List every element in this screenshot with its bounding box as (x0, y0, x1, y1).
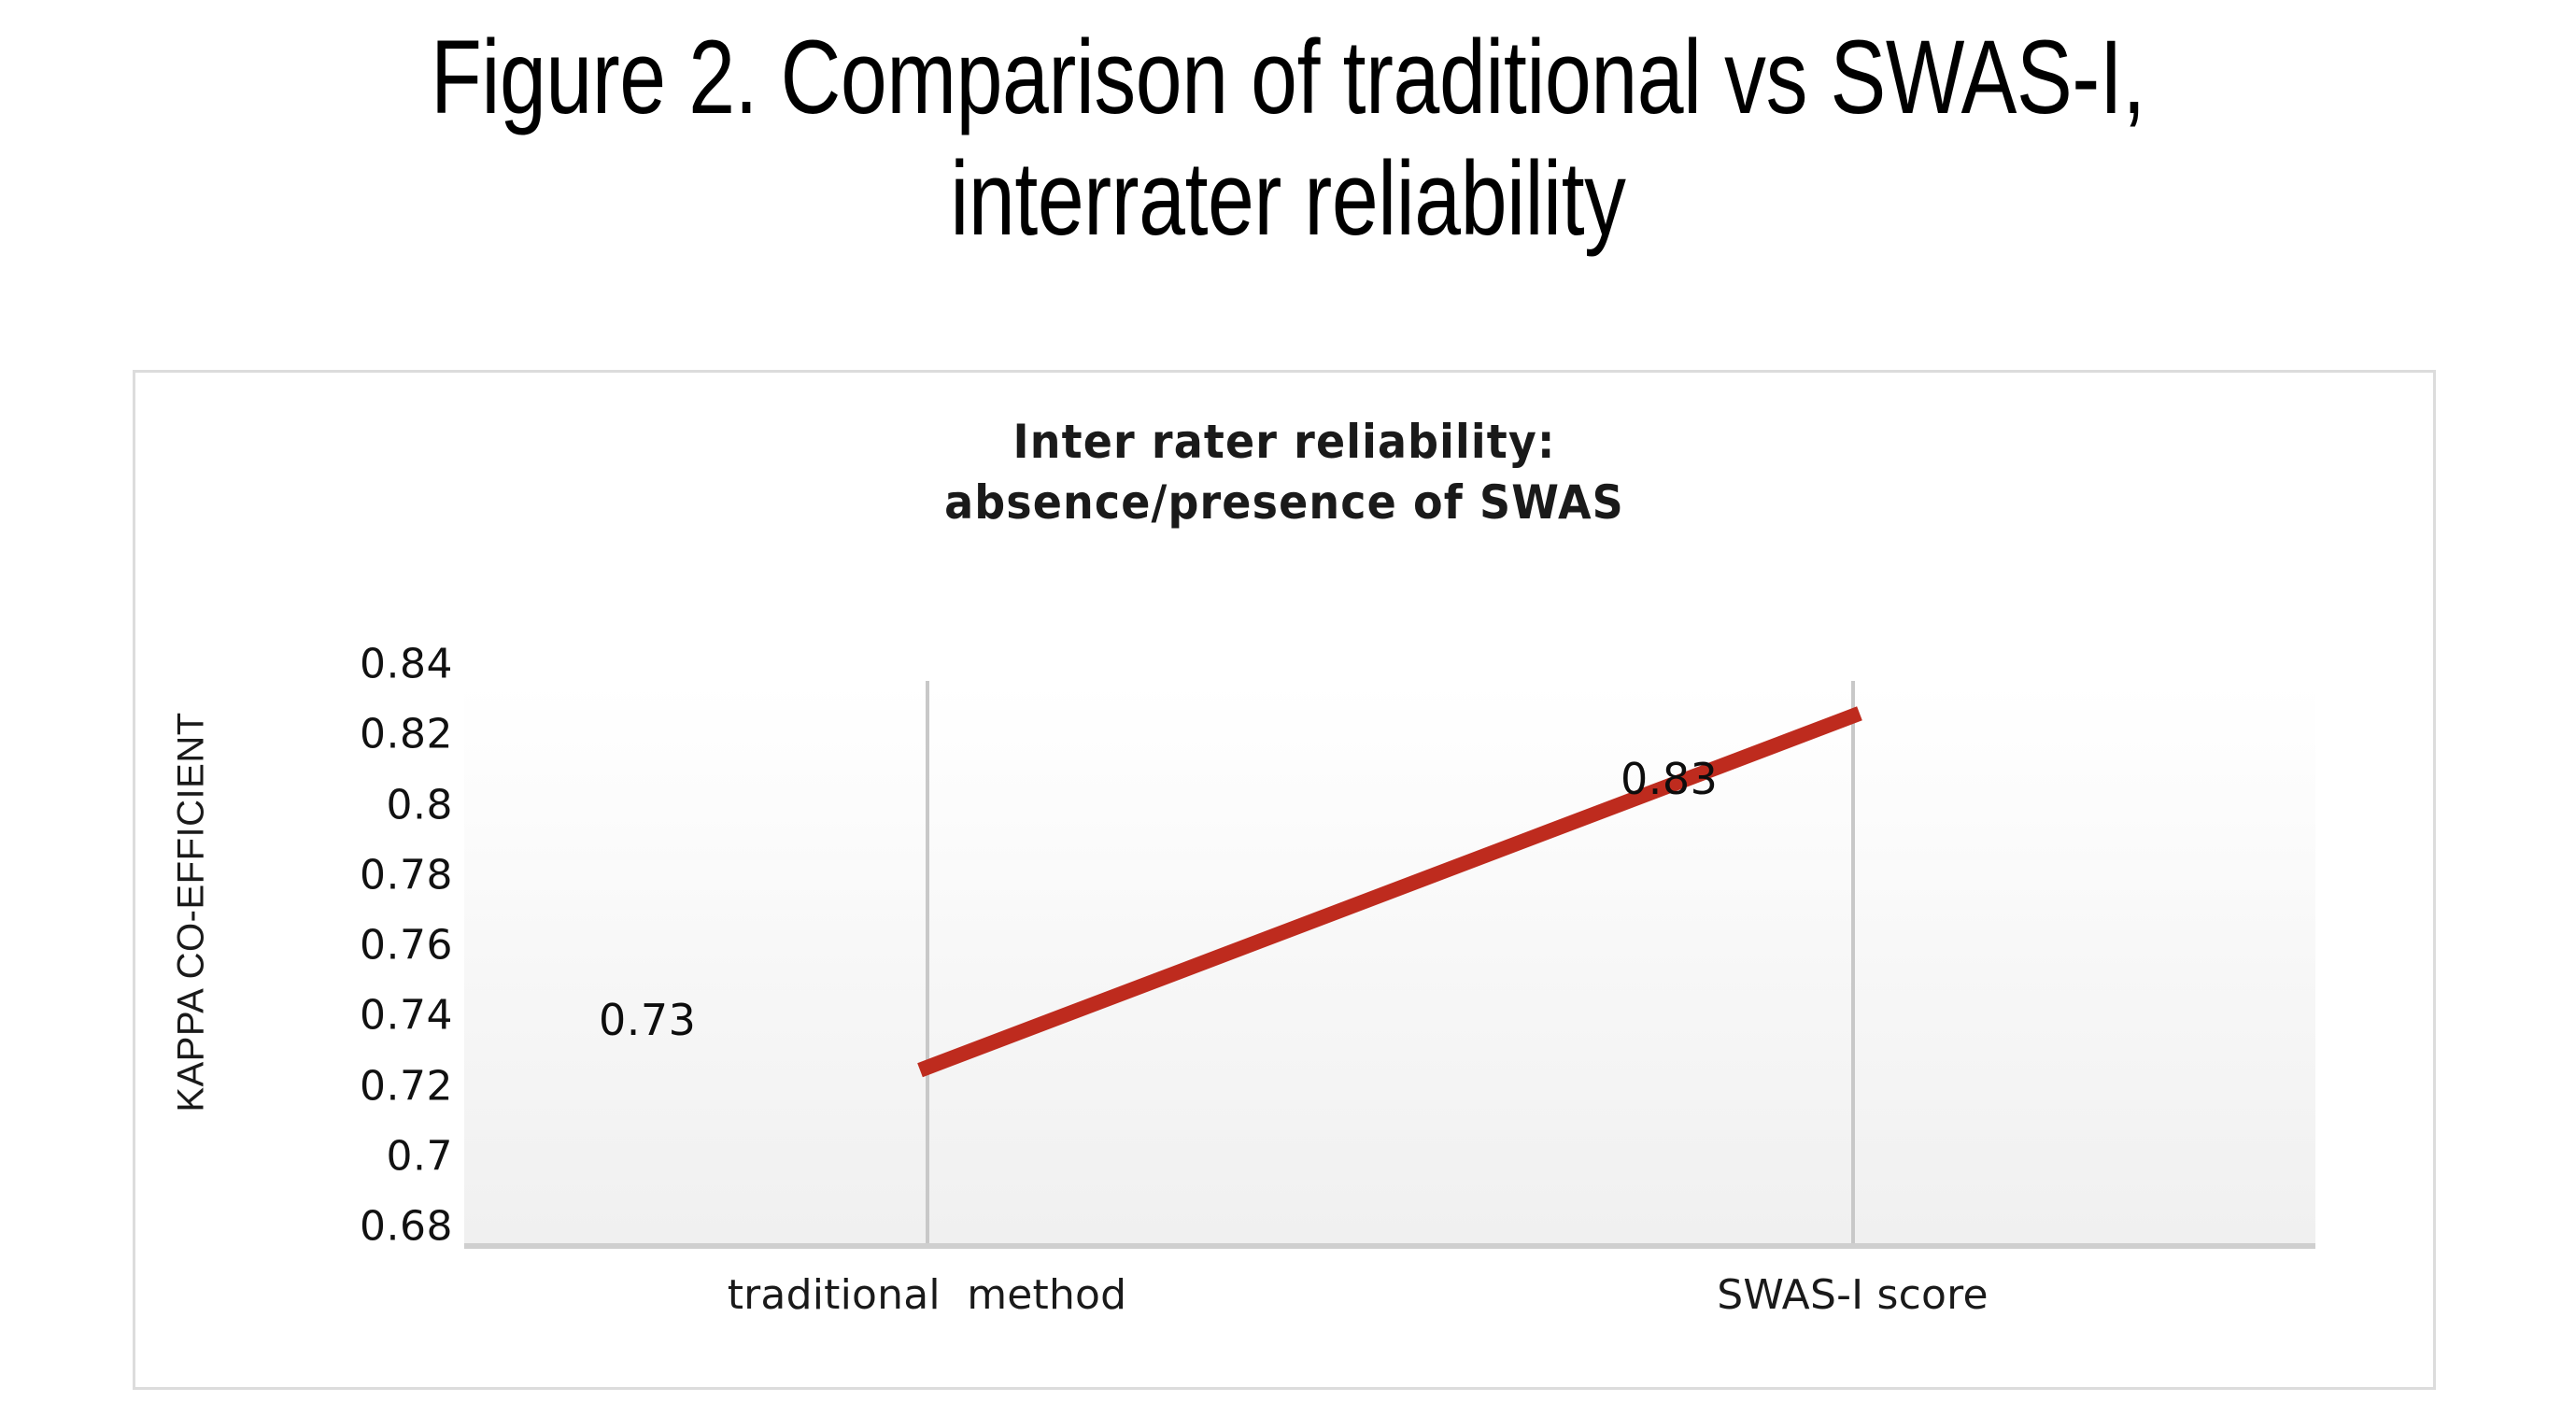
data-point-label-traditional: 0.73 (599, 995, 696, 1045)
y-axis-tick: 0.74 (236, 992, 453, 1040)
y-axis-tick: 0.84 (236, 641, 453, 688)
x-axis-tick: SWAS-I score (1717, 1271, 1989, 1319)
chart-title: Inter rater reliability: absence/presenc… (227, 412, 2341, 533)
y-axis-tick: 0.78 (236, 851, 453, 899)
x-axis-tick: traditional method (728, 1271, 1127, 1319)
x-axis-tick-labels: traditional methodSWAS-I score (464, 1271, 2315, 1337)
y-axis-tick: 0.8 (236, 781, 453, 828)
data-point-label-swas: 0.83 (1621, 754, 1718, 804)
y-axis-tick-labels: 0.840.820.80.780.760.740.720.70.68 (236, 664, 453, 1241)
y-axis-title: KAPPA CO-EFFICIENT (171, 623, 213, 1202)
x-axis-line (464, 1243, 2315, 1249)
y-axis-tick: 0.82 (236, 711, 453, 758)
page-title: Figure 2. Comparison of traditional vs S… (258, 17, 2318, 260)
chart-container[interactable]: Inter rater reliability: absence/presenc… (133, 370, 2436, 1390)
y-axis-tick: 0.76 (236, 922, 453, 970)
data-series-line (464, 681, 2315, 1243)
y-axis-tick: 0.7 (236, 1132, 453, 1180)
y-axis-tick: 0.72 (236, 1062, 453, 1110)
y-axis-tick: 0.68 (236, 1203, 453, 1251)
